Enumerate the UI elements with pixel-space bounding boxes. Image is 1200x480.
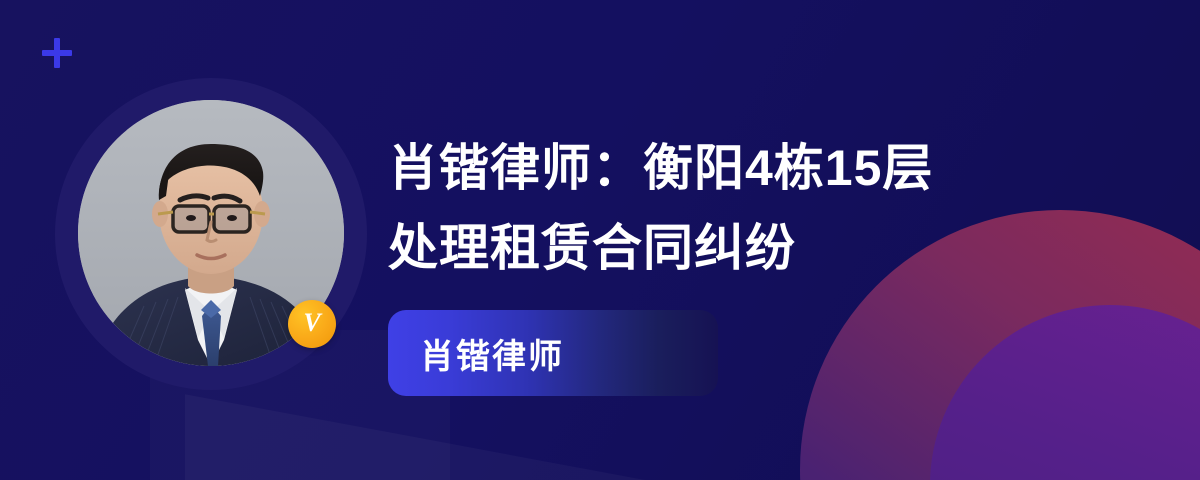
- promo-banner: V 肖锴律师：衡阳4栋15层 处理租赁合同纠纷 肖锴律师: [0, 0, 1200, 480]
- plus-vertical-bar: [54, 38, 60, 68]
- content-block: 肖锴律师：衡阳4栋15层 处理租赁合同纠纷 肖锴律师: [388, 128, 1088, 396]
- page-title: 肖锴律师：衡阳4栋15层 处理租赁合同纠纷: [388, 128, 1088, 288]
- title-line-1: 肖锴律师：衡阳4栋15层: [388, 128, 1088, 208]
- verified-badge-icon: V: [288, 300, 336, 348]
- title-line-2: 处理租赁合同纠纷: [388, 208, 1088, 288]
- plus-decoration-icon: [42, 38, 72, 68]
- lawyer-name-button[interactable]: 肖锴律师: [388, 310, 718, 396]
- verified-badge-label: V: [303, 310, 320, 336]
- avatar: V: [78, 100, 344, 366]
